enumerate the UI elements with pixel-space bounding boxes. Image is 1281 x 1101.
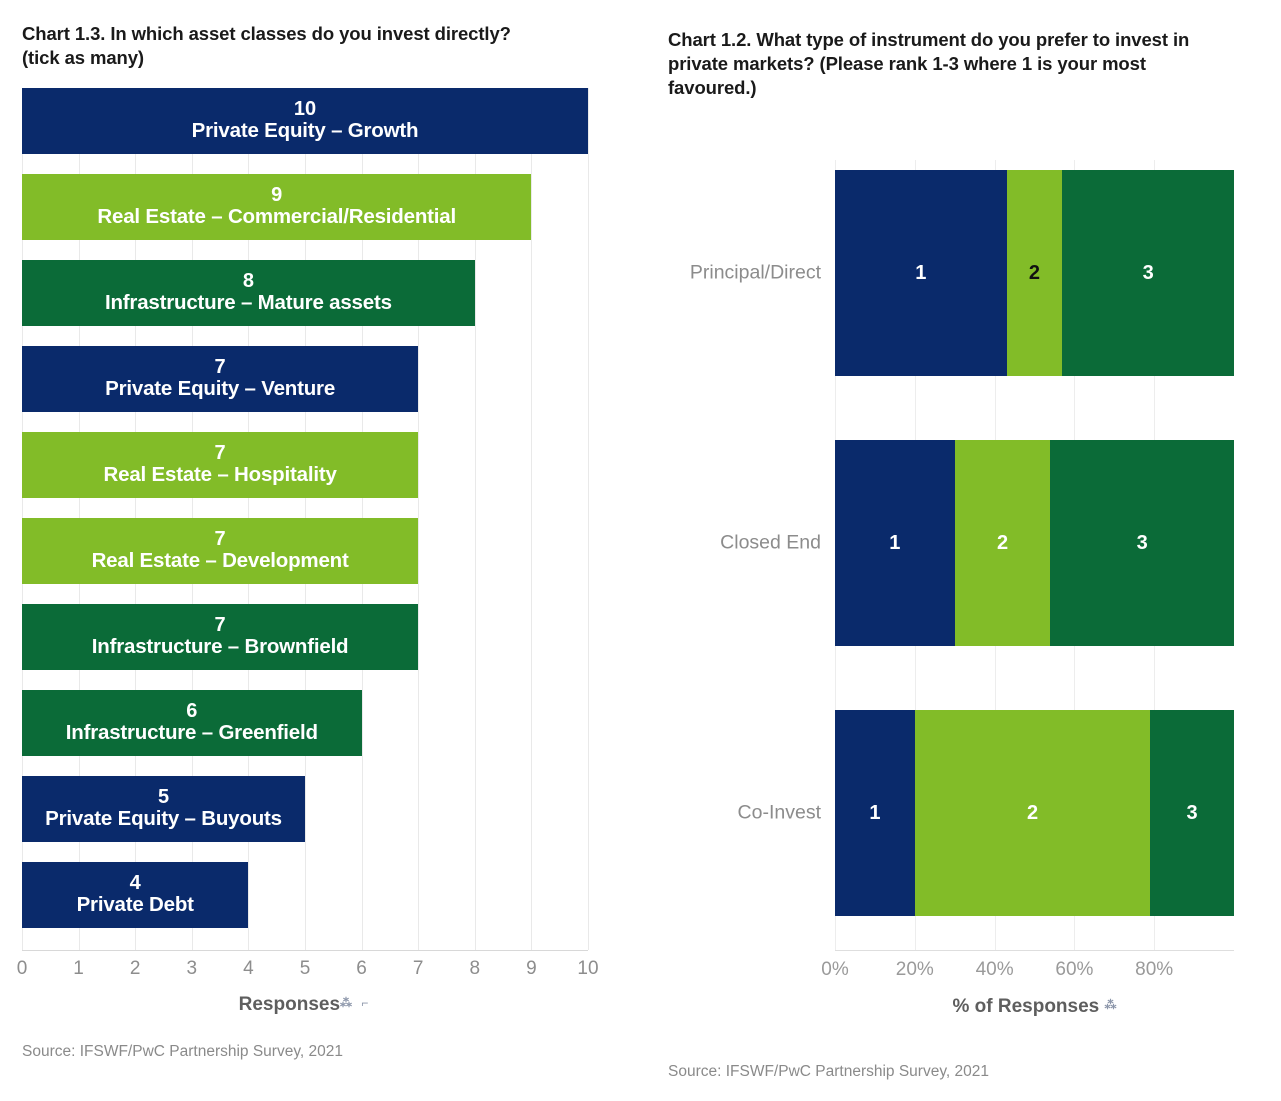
left-bar-row[interactable]: 7Infrastructure – Brownfield [22, 604, 418, 670]
right-source-note: Source: IFSWF/PwC Partnership Survey, 20… [668, 1063, 989, 1081]
left-bar-value: 7 [215, 615, 226, 637]
left-bar-value: 7 [215, 443, 226, 465]
left-chart-panel: Chart 1.3. In which asset classes do you… [0, 0, 640, 1101]
right-tick-label: 20% [896, 959, 934, 981]
right-bar-segment[interactable]: 2 [1007, 170, 1063, 376]
left-bar-label: Infrastructure – Greenfield [66, 722, 318, 745]
left-bar[interactable]: 9Real Estate – Commercial/Residential [22, 174, 531, 240]
left-bar-value: 8 [243, 271, 254, 293]
left-bar-label: Private Debt [77, 894, 194, 917]
figure-page: Chart 1.3. In which asset classes do you… [0, 0, 1281, 1101]
left-axis-title-marks: ⁂ ⌐ [340, 996, 371, 1010]
right-bar-segment[interactable]: 3 [1150, 710, 1234, 916]
left-bar-row[interactable]: 9Real Estate – Commercial/Residential [22, 174, 531, 240]
left-bar-value: 4 [130, 873, 141, 895]
right-axis-baseline [835, 950, 1234, 951]
left-bar-value: 6 [186, 701, 197, 723]
right-stacked-bar-row[interactable]: 123 [835, 170, 1234, 376]
left-tick-label: 6 [356, 958, 367, 980]
right-category-label: Closed End [641, 532, 821, 555]
left-bar-row[interactable]: 7Private Equity – Venture [22, 346, 418, 412]
left-tick-label: 3 [187, 958, 198, 980]
right-stacked-bar-row[interactable]: 123 [835, 440, 1234, 646]
left-bar[interactable]: 10Private Equity – Growth [22, 88, 588, 154]
right-tick-label: 40% [976, 959, 1014, 981]
left-bar-label: Private Equity – Buyouts [45, 808, 282, 831]
left-axis-title-text: Responses [239, 994, 340, 1015]
left-bar[interactable]: 7Infrastructure – Brownfield [22, 604, 418, 670]
left-tick-label: 2 [130, 958, 141, 980]
right-tick-label: 60% [1055, 959, 1093, 981]
left-bar-label: Real Estate – Commercial/Residential [97, 206, 456, 229]
left-tick-label: 0 [17, 958, 28, 980]
right-chart-title: Chart 1.2. What type of instrument do yo… [668, 28, 1238, 100]
left-bar[interactable]: 5Private Equity – Buyouts [22, 776, 305, 842]
left-tick-label: 1 [73, 958, 84, 980]
left-bar[interactable]: 7Real Estate – Development [22, 518, 418, 584]
right-category-label: Co-Invest [641, 802, 821, 825]
left-bar[interactable]: 6Infrastructure – Greenfield [22, 690, 362, 756]
left-bar-row[interactable]: 10Private Equity – Growth [22, 88, 588, 154]
right-bar-segment[interactable]: 1 [835, 170, 1007, 376]
right-bar-segment[interactable]: 1 [835, 440, 955, 646]
left-tick-label: 8 [470, 958, 481, 980]
left-bar-label: Real Estate – Development [92, 550, 349, 573]
right-axis-title-text: % of Responses [952, 996, 1099, 1017]
left-bars-container: 10Private Equity – Growth9Real Estate – … [22, 88, 588, 950]
left-axis-baseline [22, 950, 588, 951]
left-bar-value: 10 [294, 99, 316, 121]
left-bar-label: Private Equity – Venture [105, 378, 335, 401]
left-bar-value: 5 [158, 787, 169, 809]
left-bar-value: 7 [215, 529, 226, 551]
left-tick-label: 7 [413, 958, 424, 980]
left-bar-label: Private Equity – Growth [192, 120, 419, 143]
left-bar[interactable]: 8Infrastructure – Mature assets [22, 260, 475, 326]
right-bar-segment[interactable]: 3 [1050, 440, 1234, 646]
left-tick-label: 10 [577, 958, 598, 980]
right-stacked-bar-row[interactable]: 123 [835, 710, 1234, 916]
right-chart-plot-area: 123123123 Principal/DirectClosed EndCo-I… [650, 160, 1281, 960]
left-bar-row[interactable]: 8Infrastructure – Mature assets [22, 260, 475, 326]
right-tick-label: 0% [821, 959, 848, 981]
left-tick-label: 4 [243, 958, 254, 980]
right-bar-segment[interactable]: 2 [955, 440, 1051, 646]
left-bar-value: 9 [271, 185, 282, 207]
left-bar-value: 7 [215, 357, 226, 379]
left-bar-row[interactable]: 4Private Debt [22, 862, 248, 928]
left-tick-label: 5 [300, 958, 311, 980]
left-bar-row[interactable]: 6Infrastructure – Greenfield [22, 690, 362, 756]
left-bar-row[interactable]: 7Real Estate – Development [22, 518, 418, 584]
left-bar-label: Infrastructure – Brownfield [92, 636, 349, 659]
right-axis-title: % of Responses ⁂ [835, 996, 1234, 1018]
right-bar-segment[interactable]: 2 [915, 710, 1150, 916]
right-tick-label: 80% [1135, 959, 1173, 981]
left-tick-label: 9 [526, 958, 537, 980]
right-chart-panel: Chart 1.2. What type of instrument do yo… [650, 0, 1281, 1101]
left-bar-row[interactable]: 5Private Equity – Buyouts [22, 776, 305, 842]
left-bar[interactable]: 4Private Debt [22, 862, 248, 928]
right-bar-segment[interactable]: 1 [835, 710, 915, 916]
left-chart-plot-area: 10Private Equity – Growth9Real Estate – … [0, 88, 620, 950]
left-bar-row[interactable]: 7Real Estate – Hospitality [22, 432, 418, 498]
left-bar-label: Real Estate – Hospitality [104, 464, 337, 487]
left-chart-title: Chart 1.3. In which asset classes do you… [22, 22, 542, 70]
left-gridline [588, 88, 589, 950]
left-bar[interactable]: 7Private Equity – Venture [22, 346, 418, 412]
left-source-note: Source: IFSWF/PwC Partnership Survey, 20… [22, 1043, 343, 1061]
right-axis-title-marks: ⁂ [1105, 998, 1117, 1012]
left-axis-title: Responses⁂ ⌐ [22, 994, 588, 1016]
left-gridline [531, 88, 532, 950]
left-bar-label: Infrastructure – Mature assets [105, 292, 392, 315]
left-bar[interactable]: 7Real Estate – Hospitality [22, 432, 418, 498]
right-bars-container: 123123123 [835, 160, 1234, 950]
right-category-label: Principal/Direct [641, 262, 821, 285]
right-bar-segment[interactable]: 3 [1062, 170, 1234, 376]
